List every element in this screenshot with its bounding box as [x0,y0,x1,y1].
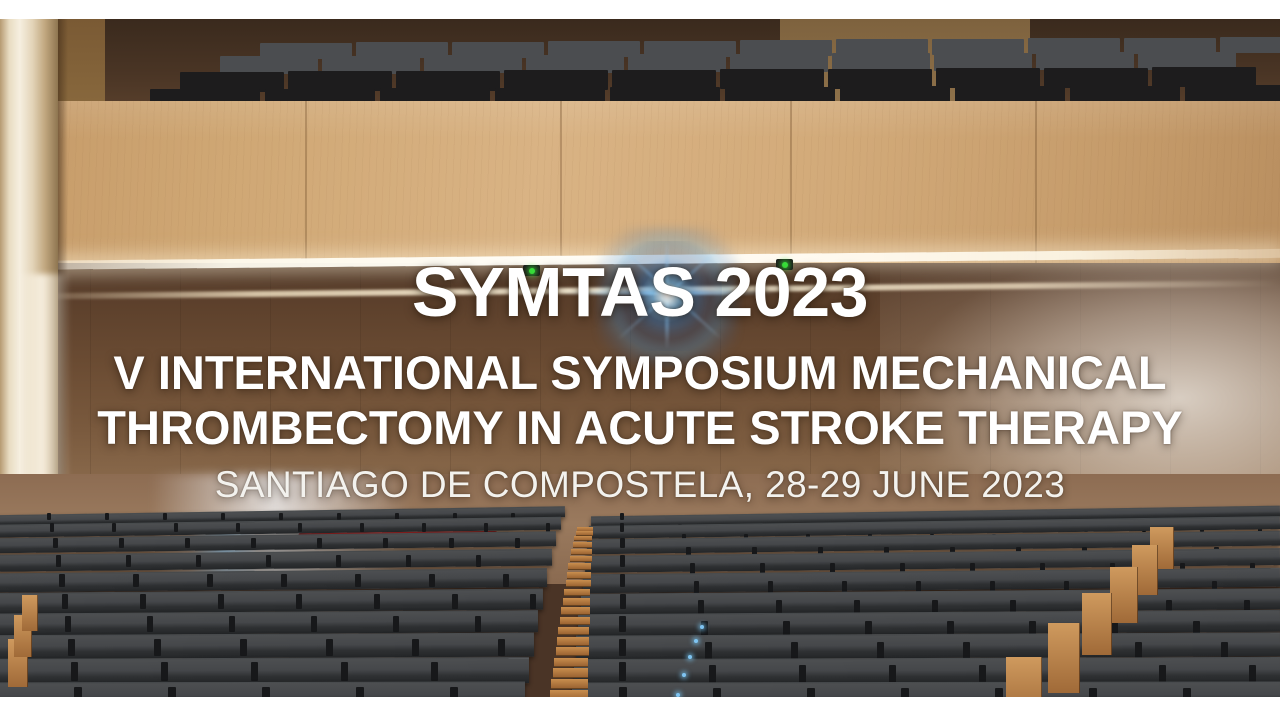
aisle-step [564,589,590,597]
aisle-step [554,658,588,668]
seat-divider [431,662,438,681]
seat-divider [422,523,426,532]
letterbox-bar-top [0,0,1280,19]
aisle-wood-panel [22,595,38,631]
aisle-wood-panel [1048,623,1080,693]
seat-divider [311,616,317,632]
aisle-step [570,556,592,562]
seat-divider [251,538,256,549]
seat-divider [62,594,68,609]
seat-divider [326,639,333,656]
seat-row [0,633,534,660]
aisle-wood-panel [1006,657,1042,697]
seat-divider [207,574,213,587]
seat-divider [47,513,51,521]
seat-divider [68,639,75,656]
seat-divider [713,688,721,697]
seat-divider [59,574,65,587]
seat-divider [185,538,190,549]
aisle-wood-panel [1110,567,1138,623]
seat-divider [168,687,176,697]
aisle-step [550,690,588,697]
seat-divider [619,687,627,697]
wood-wall-panel [0,101,1280,271]
wood-seam [305,101,307,271]
aisle-step [553,668,588,678]
seat-divider [619,662,626,681]
aisle-step [551,679,588,689]
aisle-step [557,637,589,646]
led-indicator-icon [523,265,540,276]
balcony-seat-block [1220,37,1280,53]
aisle-step [566,580,591,587]
seat-divider [705,642,712,659]
seat-divider [112,523,116,532]
aisle-step [573,542,592,548]
seat-divider [619,639,626,656]
seat-divider [251,662,258,681]
seat-divider [620,538,625,549]
seat-divider [71,662,78,681]
balcony-seat-block [1044,68,1148,88]
auditorium-seating [0,519,1280,697]
seat-divider [484,523,488,532]
seat-divider [74,687,82,697]
seat-divider [229,616,235,632]
seat-divider [620,513,624,521]
seat-divider [341,662,348,681]
wood-seam [560,101,562,271]
floor-marker-light [688,655,692,659]
aisle-step [568,563,591,570]
seat-divider [356,687,364,697]
seat-divider [218,594,224,609]
seat-divider [406,555,411,567]
seat-divider [979,665,986,684]
aisle-step [571,549,592,555]
seat-divider [355,574,361,587]
seat-divider [620,574,626,587]
seat-divider [498,639,505,656]
seat-divider [56,555,61,567]
seat-divider [393,616,399,632]
seat-divider [262,687,270,697]
seat-row [576,633,1280,661]
seat-divider [53,538,58,549]
seat-divider [450,687,458,697]
aisle-step [563,598,590,606]
auditorium-photo [0,19,1280,697]
seat-divider [296,594,302,609]
seat-divider [163,513,167,521]
seat-divider [889,665,896,684]
aisle-step [561,607,590,615]
seat-divider [65,616,71,632]
seat-divider [133,574,139,587]
letterbox-bar-bottom [0,697,1280,720]
led-indicator-icon [776,259,793,270]
seat-divider [1183,688,1191,697]
seat-divider [126,555,131,567]
floor-marker-light [700,625,704,629]
seat-divider [140,594,146,609]
aisle-step [558,627,589,636]
seat-divider [429,574,435,587]
seat-divider [791,642,798,659]
seat-divider [221,513,225,521]
seat-divider [877,642,884,659]
seat-divider [503,574,509,587]
wood-seam [790,101,792,271]
aisle-step [574,536,592,542]
seat-divider [709,665,716,684]
seat-divider [475,616,481,632]
seat-divider [236,523,240,532]
seat-divider [360,523,364,532]
seat-divider [119,538,124,549]
seat-divider [281,574,287,587]
seat-divider [298,523,302,532]
seat-row [0,657,529,685]
seat-divider [147,616,153,632]
seat-divider [452,594,458,609]
seat-divider [515,538,520,549]
seat-divider [196,555,201,567]
seat-divider [336,555,341,567]
seat-divider [530,594,536,609]
floor-marker-light [682,673,686,677]
seat-divider [807,688,815,697]
seat-divider [995,688,1003,697]
seat-divider [412,639,419,656]
aisle-step [560,617,590,625]
seat-divider [266,555,271,567]
seat-divider [174,523,178,532]
floor-marker-light [694,639,698,643]
seat-divider [105,513,109,521]
seat-divider [449,538,454,549]
seat-divider [154,639,161,656]
seat-divider [620,594,626,609]
seat-divider [240,639,247,656]
seat-divider [799,665,806,684]
seat-divider [317,538,322,549]
aisle-step [567,572,591,579]
seat-divider [50,523,54,532]
aisle-step [556,647,589,656]
seat-divider [476,555,481,567]
seat-divider [901,688,909,697]
presentation-slide: SYMTAS 2023 V INTERNATIONAL SYMPOSIUM ME… [0,0,1280,720]
seat-divider [383,538,388,549]
wood-seam [1035,101,1037,271]
seat-divider [620,523,624,532]
seat-divider [619,616,625,632]
aisle-wood-panel [1082,593,1112,655]
seat-divider [1089,688,1097,697]
seat-divider [620,555,625,567]
seat-divider [161,662,168,681]
seat-divider [374,594,380,609]
seat-divider [279,513,283,521]
